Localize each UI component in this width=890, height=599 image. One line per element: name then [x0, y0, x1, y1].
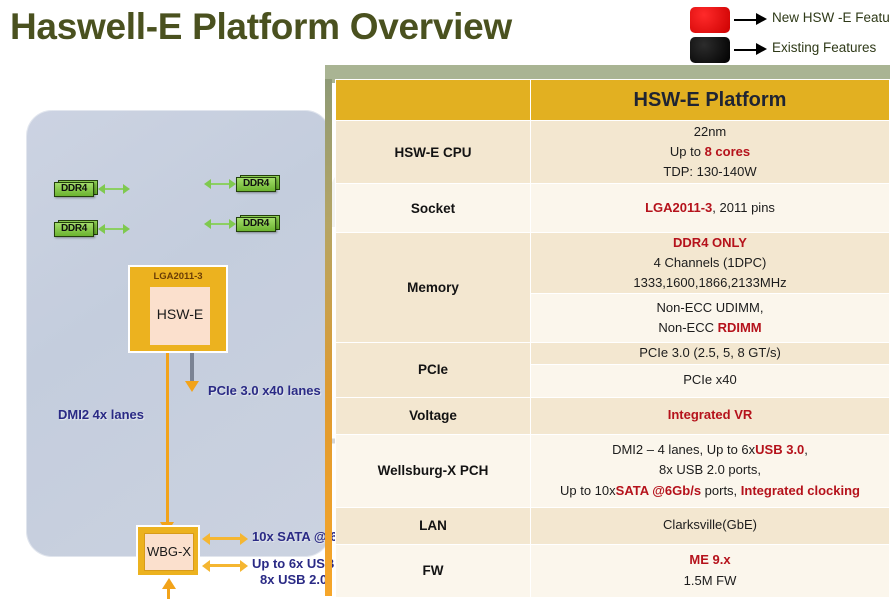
cpu-package-label: LGA2011-3	[130, 271, 226, 282]
table-row: Memory DDR4 ONLY4 Channels (1DPC)1333,16…	[336, 233, 890, 294]
memory-link-left-top	[98, 184, 130, 194]
row-value-hsw-e-cpu: 22nmUp to 8 coresTDP: 130-140W	[531, 121, 890, 184]
memory-link-right-bottom	[204, 219, 236, 229]
table-row: Voltage Integrated VR	[336, 397, 890, 434]
spec-table-container: HSW-E Platform HSW-E CPU 22nmUp to 8 cor…	[325, 79, 890, 596]
pch-package: WBG-X	[136, 525, 200, 577]
row-label-memory: Memory	[336, 233, 531, 343]
dmi-label: DMI2 4x lanes	[58, 407, 144, 422]
table-row: Socket LGA2011-3, 2011 pins	[336, 184, 890, 233]
ddr4-label: DDR4	[236, 218, 276, 229]
memory-link-left-bottom	[98, 224, 130, 234]
row-label-hsw-e-cpu: HSW-E CPU	[336, 121, 531, 184]
row-value-memory-2: Non-ECC UDIMM,Non-ECC RDIMM	[531, 294, 890, 343]
usb2-label: 8x USB 2.0	[260, 572, 327, 587]
pch-die: WBG-X	[144, 533, 194, 571]
arrow-icon	[734, 47, 770, 53]
cpu-package: LGA2011-3 HSW-E	[128, 265, 228, 353]
pcie-cpu-label: PCIe 3.0 x40 lanes	[208, 383, 321, 398]
row-label-lan: LAN	[336, 507, 531, 544]
spec-table: HSW-E Platform HSW-E CPU 22nmUp to 8 cor…	[335, 79, 890, 598]
ddr4-module-left-bottom: DDR4	[54, 220, 98, 237]
slide-canvas: Haswell-E Platform Overview New HSW -E F…	[0, 0, 890, 599]
row-value-fw: ME 9.x1.5M FW	[531, 544, 890, 597]
table-row: FW ME 9.x1.5M FW	[336, 544, 890, 597]
memory-link-right-top	[204, 179, 236, 189]
row-label-fw: FW	[336, 544, 531, 597]
row-value-socket: LGA2011-3, 2011 pins	[531, 184, 890, 233]
page-title: Haswell-E Platform Overview	[10, 6, 512, 48]
ddr4-module-right-top: DDR4	[236, 175, 280, 192]
cpu-die: HSW-E	[150, 287, 210, 345]
legend-label-new-features: New HSW -E Features	[772, 10, 890, 25]
table-row: LAN Clarksville(GbE)	[336, 507, 890, 544]
legend-label-existing-features: Existing Features	[772, 40, 876, 55]
row-label-wellsburg-x-pch: Wellsburg-X PCH	[336, 434, 531, 507]
ddr4-label: DDR4	[236, 178, 276, 189]
black-square-swatch	[690, 37, 730, 63]
row-value-pcie-1: PCIe 3.0 (2.5, 5, 8 GT/s)	[531, 343, 890, 364]
pcie-cpu-arrowhead-down	[185, 381, 199, 392]
arrow-icon	[734, 17, 770, 23]
table-row: HSW-E CPU 22nmUp to 8 coresTDP: 130-140W	[336, 121, 890, 184]
ddr4-module-right-bottom: DDR4	[236, 215, 280, 232]
table-row: Wellsburg-X PCH DMI2 – 4 lanes, Up to 6x…	[336, 434, 890, 507]
pcie-pch-arrowhead-up	[162, 578, 176, 589]
pch-die-label: WBG-X	[145, 544, 193, 559]
ddr4-label: DDR4	[54, 223, 94, 234]
ddr4-module-left-top: DDR4	[54, 180, 98, 197]
row-label-pcie: PCIe	[336, 343, 531, 397]
row-label-socket: Socket	[336, 184, 531, 233]
table-header-row: HSW-E Platform	[336, 80, 890, 121]
table-row: PCIe PCIe 3.0 (2.5, 5, 8 GT/s)	[336, 343, 890, 364]
header-cell-platform: HSW-E Platform	[531, 80, 890, 121]
header-cell-blank	[336, 80, 531, 121]
sata-link-arrow	[202, 533, 248, 544]
row-value-pcie-2: PCIe x40	[531, 364, 890, 397]
row-value-lan: Clarksville(GbE)	[531, 507, 890, 544]
row-value-wellsburg-x-pch: DMI2 – 4 lanes, Up to 6xUSB 3.0,8x USB 2…	[531, 434, 890, 507]
red-square-swatch	[690, 7, 730, 33]
usb-link-arrow	[202, 560, 248, 571]
row-value-voltage: Integrated VR	[531, 397, 890, 434]
row-value-memory-1: DDR4 ONLY4 Channels (1DPC)1333,1600,1866…	[531, 233, 890, 294]
table-accent-bar	[325, 79, 332, 596]
dmi-link-line	[166, 342, 169, 532]
cpu-die-label: HSW-E	[150, 306, 210, 322]
ddr4-label: DDR4	[54, 183, 94, 194]
platform-block-diagram: LGA2011-3 HSW-E DDR4 DDR4 DDR4 DDR4	[26, 110, 331, 557]
row-label-voltage: Voltage	[336, 397, 531, 434]
legend: New HSW -E Features Existing Features	[690, 5, 890, 65]
